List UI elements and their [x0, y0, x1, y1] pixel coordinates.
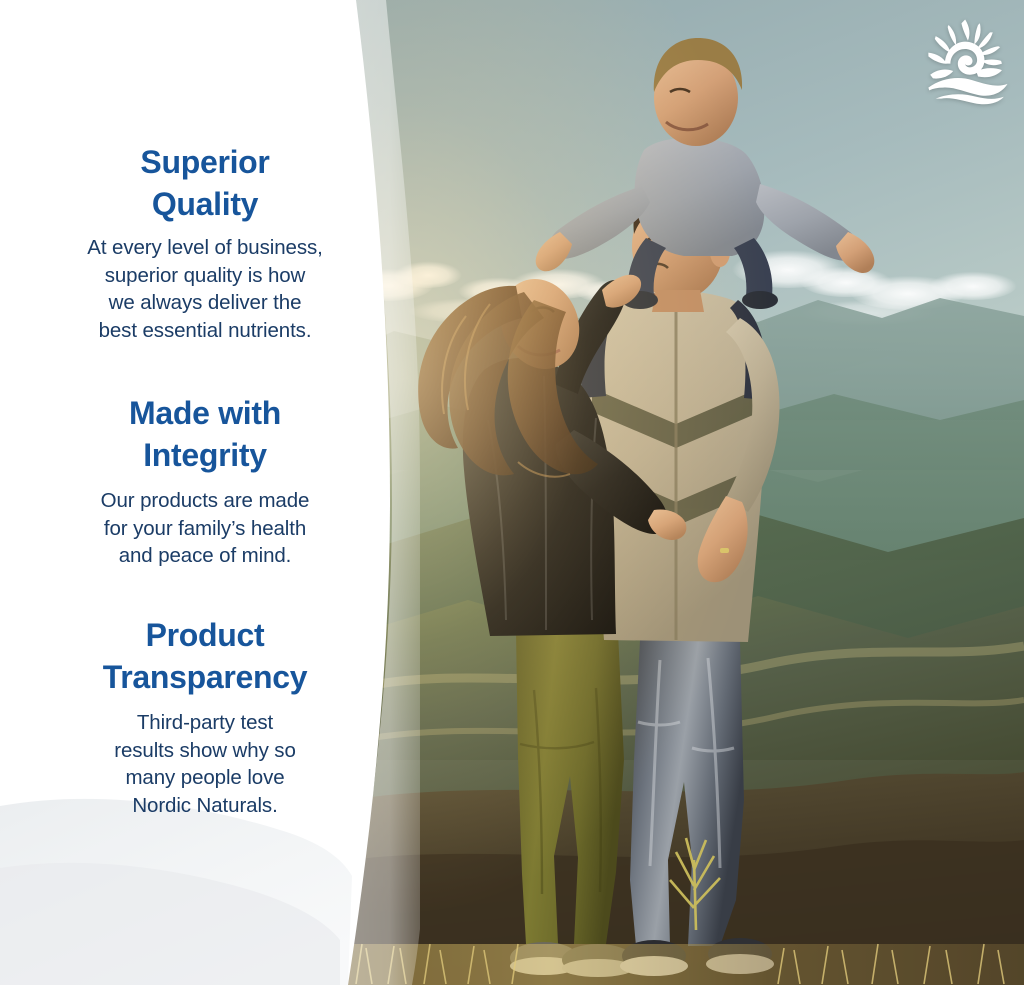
- made-with-integrity-heading: Made with Integrity: [40, 392, 370, 476]
- value-prop-superior-quality: Superior Quality At every level of busin…: [40, 141, 370, 344]
- product-transparency-body: Third-party test results show why so man…: [40, 709, 370, 819]
- sun-wave-logo-icon: [928, 20, 1007, 105]
- superior-quality-body: At every level of business, superior qua…: [40, 234, 370, 344]
- superior-quality-heading: Superior Quality: [40, 141, 370, 225]
- value-prop-made-with-integrity: Made with Integrity Our products are mad…: [40, 392, 370, 570]
- value-prop-product-transparency: Product Transparency Third-party test re…: [40, 614, 370, 819]
- nordic-naturals-logo: [921, 14, 1013, 106]
- product-transparency-heading: Product Transparency: [40, 614, 370, 698]
- value-props-copy: Superior Quality At every level of busin…: [0, 0, 412, 985]
- family-mountain-photo: [348, 0, 1024, 985]
- brand-panel-stage: Superior Quality At every level of busin…: [0, 0, 1024, 985]
- made-with-integrity-body: Our products are made for your family’s …: [40, 487, 370, 570]
